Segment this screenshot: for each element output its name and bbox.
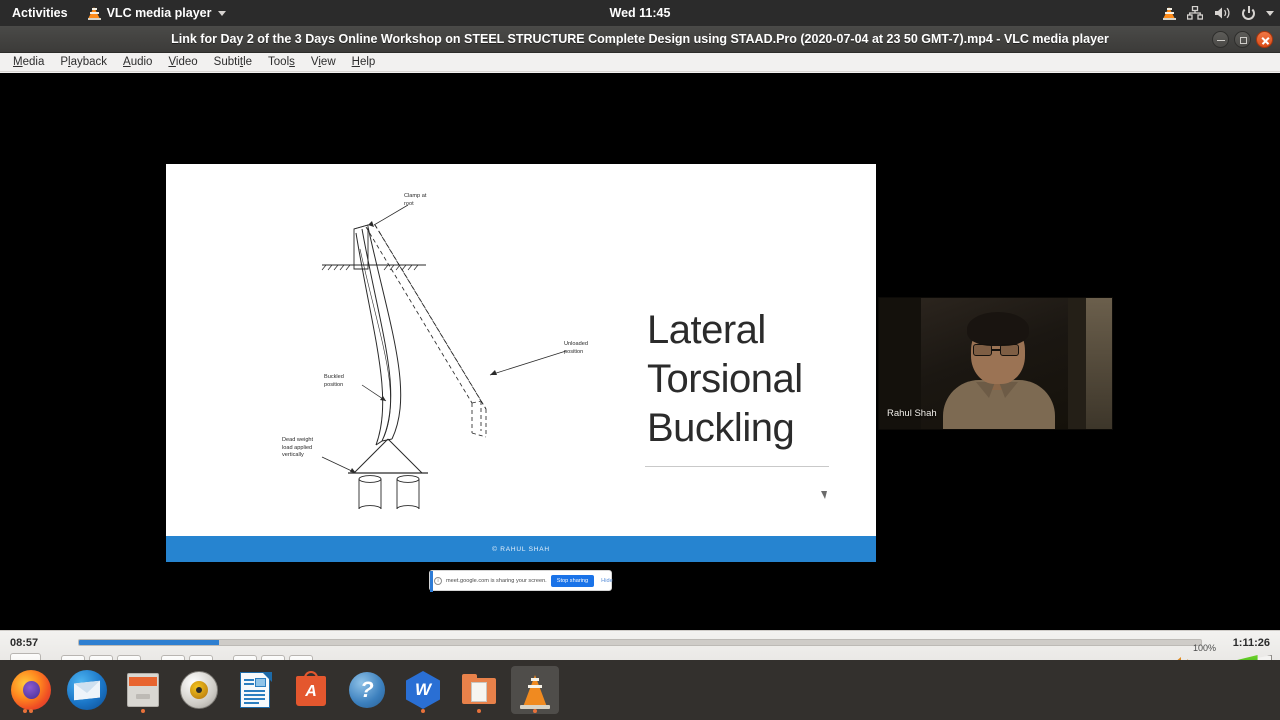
tray-vlc-cone-icon[interactable]	[1163, 6, 1176, 20]
webcam-glasses-bridge	[992, 349, 1000, 351]
slide-title-underline	[645, 466, 829, 467]
label-clamp-at-root: Clamp atroot	[404, 193, 426, 208]
window-controls	[1212, 26, 1273, 53]
seek-progress-fill	[79, 640, 219, 645]
ubuntu-software-icon: A	[291, 670, 331, 710]
help-icon: ?	[347, 670, 387, 710]
dock-item-help[interactable]: ?	[343, 666, 391, 714]
vlc-titlebar[interactable]: Link for Day 2 of the 3 Days Online Work…	[0, 26, 1280, 53]
webcam-overlay[interactable]: Rahul Shah	[878, 297, 1113, 430]
seek-row: 08:57 1:11:26	[0, 631, 1280, 651]
menu-tools[interactable]: Tools	[261, 53, 302, 71]
running-indicator	[421, 709, 425, 713]
maximize-button[interactable]	[1234, 31, 1251, 48]
volume-icon[interactable]	[1214, 6, 1231, 20]
power-icon[interactable]	[1242, 7, 1255, 20]
vlc-menubar: Media Playback Audio Video Subtitle Tool…	[0, 53, 1280, 72]
wps-office-icon: W	[403, 670, 443, 710]
firefox-icon	[11, 670, 51, 710]
dock-item-thunderbird[interactable]	[63, 666, 111, 714]
libreoffice-writer-icon	[235, 670, 275, 710]
running-indicator	[29, 709, 33, 713]
screen-share-notification: i meet.google.com is sharing your screen…	[429, 570, 612, 591]
network-icon[interactable]	[1187, 6, 1203, 20]
webcam-glasses-left	[973, 344, 992, 356]
video-surface[interactable]: Clamp atroot Unloadedposition Buckledpos…	[0, 73, 1280, 630]
buckling-diagram: Clamp atroot Unloadedposition Buckledpos…	[276, 189, 606, 509]
volume-label: 100%	[1193, 643, 1216, 653]
menu-subtitle[interactable]: Subtitle	[207, 53, 259, 71]
diagram-svg	[276, 189, 606, 509]
window-title: Link for Day 2 of the 3 Days Online Work…	[171, 32, 1109, 46]
slide-title-line-3: Buckling	[647, 404, 832, 453]
running-indicator	[533, 709, 537, 713]
mouse-cursor	[821, 491, 827, 500]
webcam-wall-right	[1086, 298, 1112, 429]
webcam-door	[1068, 298, 1086, 429]
file-manager-icon	[459, 670, 499, 710]
label-unloaded-position: Unloadedposition	[564, 341, 588, 356]
webcam-person-hair	[967, 312, 1029, 346]
label-buckled-position: Buckledposition	[324, 374, 344, 389]
hide-button[interactable]: Hide	[598, 578, 616, 584]
slide-title-line-1: Lateral	[647, 306, 832, 355]
dock-item-files[interactable]	[119, 666, 167, 714]
elapsed-time[interactable]: 08:57	[10, 637, 68, 649]
stop-sharing-button[interactable]: Stop sharing	[551, 575, 594, 587]
running-indicator	[477, 709, 481, 713]
webcam-collar-left	[976, 382, 995, 398]
dock-item-ubuntu-software[interactable]: A	[287, 666, 335, 714]
share-accent-bar	[430, 571, 433, 592]
system-tray	[1163, 0, 1274, 26]
menu-video[interactable]: Video	[161, 53, 204, 71]
menu-view[interactable]: View	[304, 53, 343, 71]
dock-item-firefox[interactable]	[7, 666, 55, 714]
clock[interactable]: Wed 11:45	[0, 0, 1280, 26]
menu-help[interactable]: Help	[345, 53, 383, 71]
webcam-participant-name: Rahul Shah	[887, 408, 937, 419]
minimize-button[interactable]	[1212, 31, 1229, 48]
share-message: meet.google.com is sharing your screen.	[446, 578, 547, 584]
gnome-top-panel: Activities VLC media player Wed 11:45	[0, 0, 1280, 26]
info-icon: i	[434, 577, 442, 585]
files-icon	[123, 670, 163, 710]
vlc-icon	[515, 670, 555, 710]
slide-footer-text: © RAHUL SHAH	[492, 546, 550, 553]
dock-item-wps-office[interactable]: W	[399, 666, 447, 714]
label-dead-weight: Dead weightload appliedvertically	[282, 437, 313, 460]
dock-item-libreoffice-writer[interactable]	[231, 666, 279, 714]
dock-item-rhythmbox[interactable]	[175, 666, 223, 714]
menu-media[interactable]: Media	[6, 53, 51, 71]
menu-playback[interactable]: Playback	[53, 53, 114, 71]
slide-footer: © RAHUL SHAH	[166, 536, 876, 562]
webcam-glasses-right	[1000, 344, 1019, 356]
ubuntu-dock: A ? W	[0, 660, 1280, 720]
webcam-collar-right	[999, 382, 1018, 398]
vlc-window: Link for Day 2 of the 3 Days Online Work…	[0, 26, 1280, 660]
seek-slider[interactable]	[78, 639, 1202, 646]
thunderbird-icon	[67, 670, 107, 710]
tray-chevron-down-icon[interactable]	[1266, 11, 1274, 16]
slide-title-line-2: Torsional	[647, 355, 832, 404]
running-indicator	[141, 709, 145, 713]
menu-audio[interactable]: Audio	[116, 53, 159, 71]
rhythmbox-icon	[179, 670, 219, 710]
dock-item-file-manager[interactable]	[455, 666, 503, 714]
dock-item-vlc[interactable]	[511, 666, 559, 714]
presentation-slide: Clamp atroot Unloadedposition Buckledpos…	[166, 164, 876, 562]
slide-title: Lateral Torsional Buckling	[647, 306, 832, 453]
close-button[interactable]	[1256, 31, 1273, 48]
desktop-screen: Activities VLC media player Wed 11:45	[0, 0, 1280, 720]
total-time[interactable]: 1:11:26	[1212, 637, 1270, 649]
